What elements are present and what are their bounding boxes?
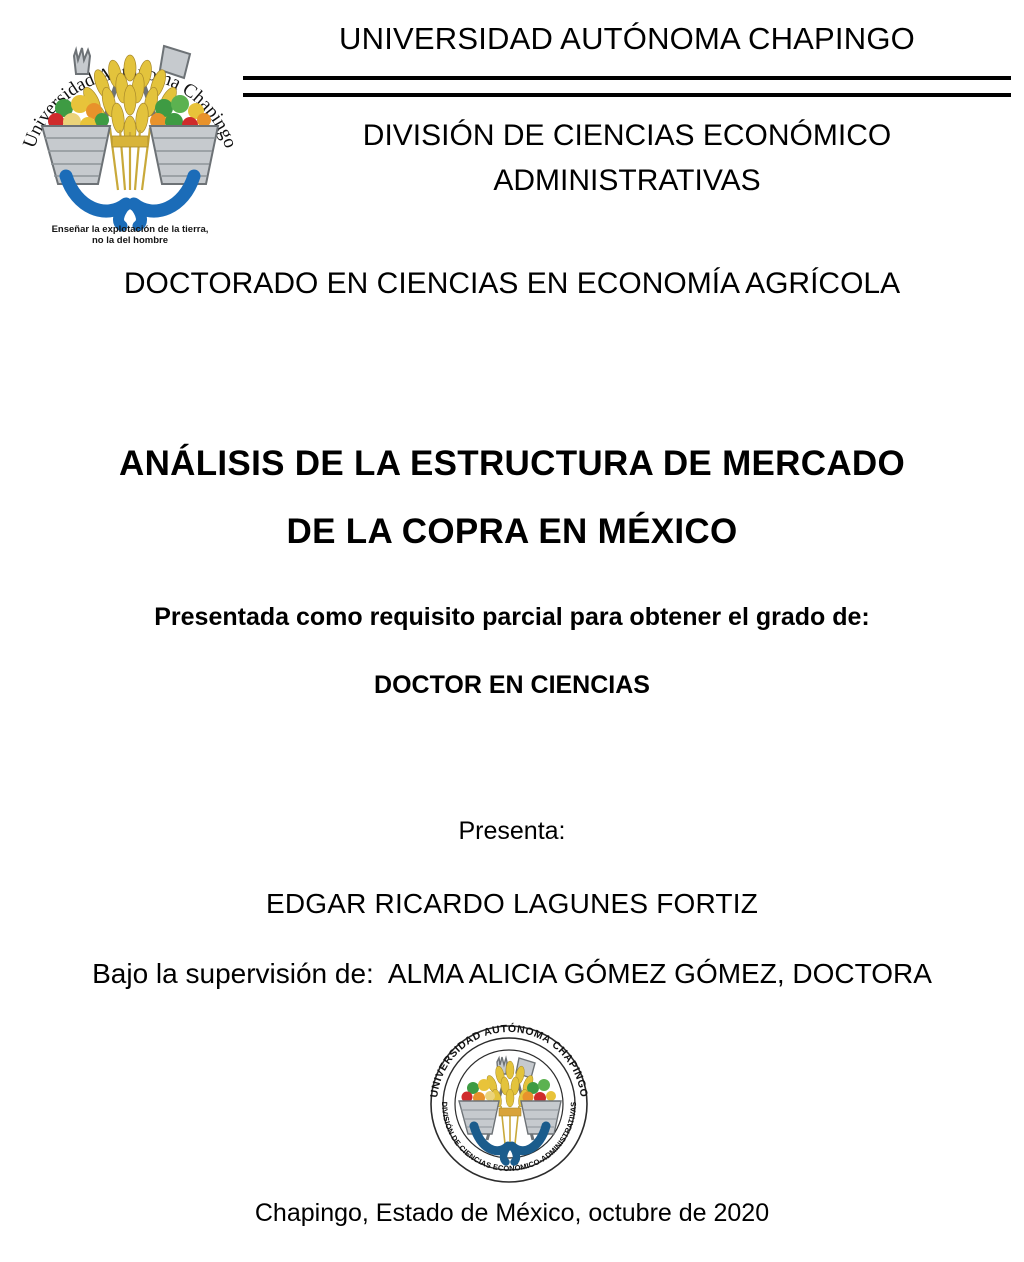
page-title: ANÁLISIS DE LA ESTRUCTURA DE MERCADO DE …: [0, 430, 1024, 566]
university-name: UNIVERSIDAD AUTÓNOMA CHAPINGO: [243, 20, 1011, 58]
supervisor-line: Bajo la supervisión de: ALMA ALICIA GÓME…: [0, 955, 1024, 993]
svg-text:Enseñar la explotación de la t: Enseñar la explotación de la tierra,: [52, 224, 209, 235]
header-rule-gap: [243, 80, 1011, 93]
degree-requirement-text: Presentada como requisito parcial para o…: [0, 600, 1024, 634]
page-title-line2: DE LA COPRA EN MÉXICO: [0, 498, 1024, 566]
footer-place-date: Chapingo, Estado de México, octubre de 2…: [0, 1196, 1024, 1230]
page-title-line1: ANÁLISIS DE LA ESTRUCTURA DE MERCADO: [0, 430, 1024, 498]
header-text-column: UNIVERSIDAD AUTÓNOMA CHAPINGO DIVISIÓN D…: [243, 20, 1011, 203]
author-label: Presenta:: [0, 814, 1024, 848]
svg-text:no la del hombre: no la del hombre: [92, 235, 168, 246]
uach-crest-logo: Universidad Autónoma Chapingo: [14, 8, 246, 248]
degree-name: DOCTOR EN CIENCIAS: [0, 668, 1024, 702]
division-name-line1: DIVISIÓN DE CIENCIAS ECONÓMICO: [243, 113, 1011, 158]
header-block: Universidad Autónoma Chapingo: [0, 0, 1024, 250]
program-name: DOCTORADO EN CIENCIAS EN ECONOMÍA AGRÍCO…: [0, 264, 1024, 304]
header-double-rule: [243, 76, 1011, 97]
division-name-line2: ADMINISTRATIVAS: [243, 158, 1011, 203]
author-name: EDGAR RICARDO LAGUNES FORTIZ: [0, 886, 1024, 922]
thesis-cover-page: Universidad Autónoma Chapingo: [0, 0, 1024, 1262]
header-rule-bottom: [243, 93, 1011, 97]
division-name: DIVISIÓN DE CIENCIAS ECONÓMICO ADMINISTR…: [243, 113, 1011, 203]
dicea-seal-logo: UNIVERSIDAD AUTÓNOMA CHAPINGO DIVISIÓN D…: [417, 1012, 603, 1184]
